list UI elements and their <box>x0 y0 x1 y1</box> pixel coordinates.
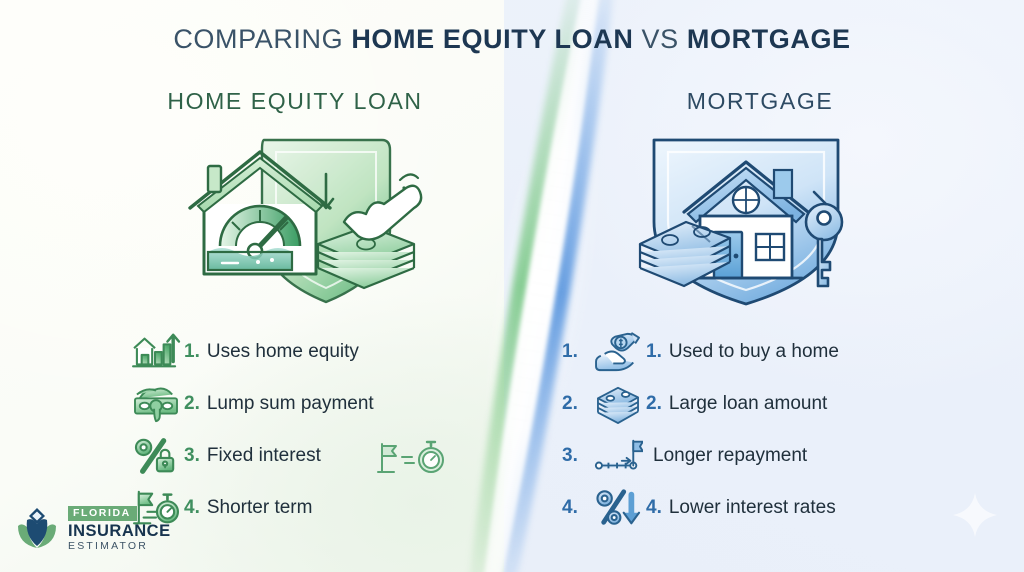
list-item-number: 4. <box>646 497 669 519</box>
timeline-flag-icon <box>590 432 646 480</box>
list-item-label: Shorter term <box>207 497 313 519</box>
list-item[interactable]: 2. Lump sum payment <box>128 378 458 430</box>
list-item-label: Used to buy a home <box>669 341 839 363</box>
list-item-label: Lower interest rates <box>669 497 836 519</box>
percent-down-arrow-icon <box>590 484 646 532</box>
list-item[interactable]: 4. Shorter term <box>128 482 458 534</box>
percent-lock-icon <box>128 432 184 480</box>
list-item-number: 2. <box>646 393 669 415</box>
page-title: COMPARING HOME EQUITY LOAN VS MORTGAGE <box>0 24 1024 55</box>
logo-subtitle: ESTIMATOR <box>68 541 171 552</box>
cash-stack-hand-icon <box>128 380 184 428</box>
infographic-canvas: COMPARING HOME EQUITY LOAN VS MORTGAGE H… <box>0 0 1024 572</box>
four-point-sparkle-icon <box>950 490 1000 540</box>
list-item-lead-number: 3. <box>562 445 590 467</box>
left-column-heading: HOME EQUITY LOAN <box>80 88 510 115</box>
list-item-number: 4. <box>184 497 207 519</box>
mortgage-feature-list: 1. 1. Used to buy a h <box>562 326 902 534</box>
list-item-label: Fixed interest <box>207 445 321 467</box>
list-item-number: 3. <box>184 445 207 467</box>
hand-giving-money-icon <box>590 328 646 376</box>
home-equity-feature-list: 1. Uses home equity <box>128 326 458 534</box>
mortgage-hero-illustration <box>618 126 874 310</box>
logo-name: INSURANCE <box>68 523 171 540</box>
title-part-vs: VS <box>633 24 686 54</box>
list-item[interactable]: 1. 1. Used to buy a h <box>562 326 902 378</box>
home-equity-hero-illustration <box>168 126 424 310</box>
list-item-label: Lump sum payment <box>207 393 374 415</box>
list-item-lead-number: 4. <box>562 497 590 519</box>
list-item-label: Longer repayment <box>653 445 807 467</box>
right-column-heading: MORTGAGE <box>560 88 960 115</box>
list-item-number: 1. <box>646 341 669 363</box>
list-item-number: 2. <box>184 393 207 415</box>
list-item-number: 1. <box>184 341 207 363</box>
title-part-mortgage: MORTGAGE <box>687 24 851 54</box>
cash-bundle-stack-icon <box>590 380 646 428</box>
logo-wordmark: FLORIDA INSURANCE ESTIMATOR <box>68 506 171 552</box>
list-item-label: Large loan amount <box>669 393 827 415</box>
list-item[interactable]: 4. 4. Lo <box>562 482 902 534</box>
title-part-home-equity-loan: HOME EQUITY LOAN <box>351 24 633 54</box>
title-part-comparing: COMPARING <box>173 24 351 54</box>
house-growth-chart-icon <box>128 328 184 376</box>
list-item[interactable]: 2. 2. La <box>562 378 902 430</box>
flag-stopwatch-icon <box>376 440 450 480</box>
list-item-lead-number: 2. <box>562 393 590 415</box>
logo-badge-florida: FLORIDA <box>68 506 137 521</box>
list-item[interactable]: 3. <box>562 430 902 482</box>
list-item-label: Uses home equity <box>207 341 359 363</box>
list-item-lead-number: 1. <box>562 341 590 363</box>
person-in-hands-logo-mark-icon <box>14 506 60 552</box>
list-item[interactable]: 1. Uses home equity <box>128 326 458 378</box>
brand-logo[interactable]: FLORIDA INSURANCE ESTIMATOR <box>14 506 171 552</box>
